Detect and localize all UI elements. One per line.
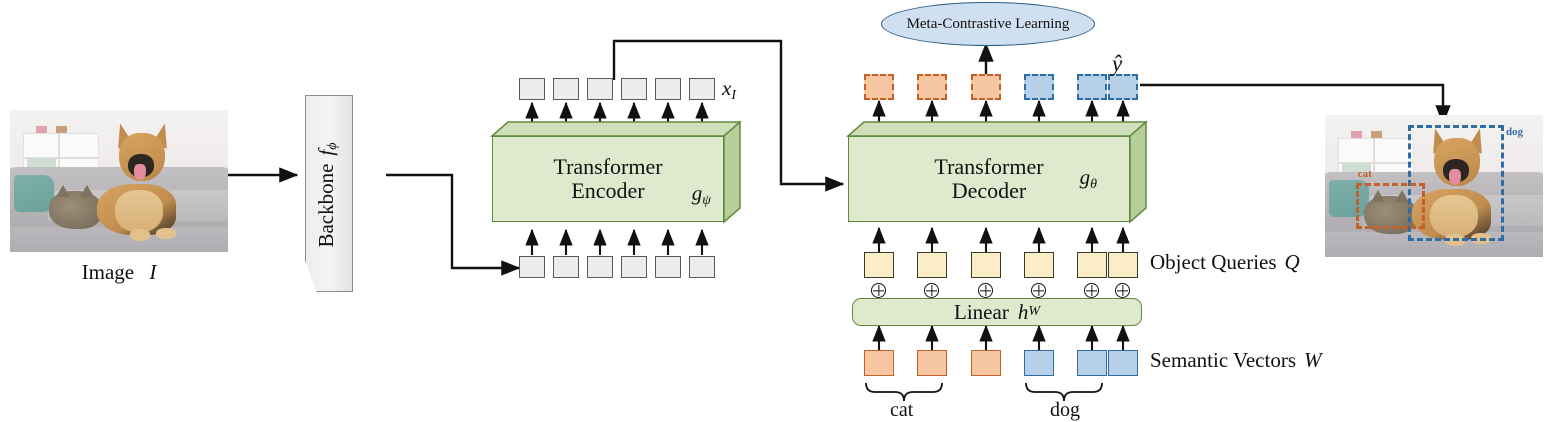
photo-dog-chest	[115, 190, 163, 233]
object-query-box[interactable]	[1024, 252, 1054, 278]
semantic-vectors-text: Semantic Vectors	[1150, 348, 1296, 372]
linear-symbol: h	[1018, 302, 1029, 323]
photo-trinket	[56, 126, 67, 133]
decoder-front-face: Transformer Decoder gθ	[848, 136, 1130, 222]
sum-icon	[1031, 283, 1046, 298]
photo-trinket	[36, 126, 47, 133]
input-caption-word: Image	[82, 260, 134, 284]
encoder-output-token[interactable]	[587, 78, 613, 100]
encoder-front-face: Transformer Encoder gψ	[492, 136, 724, 222]
photo-blanket	[14, 175, 53, 212]
linear-layer-module[interactable]: Linear hW	[852, 298, 1142, 326]
meta-contrastive-learning-label: Meta-Contrastive Learning	[907, 17, 1070, 32]
decoder-output-label: ŷ	[1112, 52, 1122, 75]
encoder-input-token[interactable]	[621, 256, 647, 278]
semantic-vectors-label: Semantic VectorsW	[1150, 350, 1322, 371]
object-queries-text: Object Queries	[1150, 250, 1277, 274]
sum-icon	[924, 283, 939, 298]
semantic-vectors-symbol: W	[1304, 348, 1322, 372]
decoder-symbol-group: gθ	[1080, 167, 1097, 192]
y-hat-symbol: ŷ	[1112, 51, 1122, 76]
encoder-output-token[interactable]	[689, 78, 715, 100]
semantic-vector-dog[interactable]	[1024, 350, 1054, 376]
semantic-group-label-dog: dog	[1050, 400, 1080, 420]
decoder-output-box-dog[interactable]	[1108, 74, 1138, 100]
decoder-symbol: g	[1080, 165, 1091, 189]
photo-dog-tongue	[134, 164, 146, 180]
encoder-input-token[interactable]	[689, 256, 715, 278]
encoder-input-token[interactable]	[655, 256, 681, 278]
input-image-caption: Image I	[10, 262, 228, 283]
encoder-label-line2: Encoder	[571, 178, 644, 203]
sum-icon	[1115, 283, 1130, 298]
encoder-output-token[interactable]	[621, 78, 647, 100]
photo-trinket	[1351, 131, 1362, 138]
decoder-label: Transformer Decoder	[934, 155, 1043, 203]
backbone-symbol: f	[314, 150, 338, 156]
encoder-output-label: xI	[722, 78, 736, 103]
linear-label: Linear	[954, 302, 1009, 323]
photo-trinket	[1371, 131, 1382, 138]
semantic-vector-cat[interactable]	[864, 350, 894, 376]
backbone-label: Backbonefϕ	[316, 115, 340, 275]
decoder-output-box-cat[interactable]	[864, 74, 894, 100]
encoder-symbol: g	[692, 181, 703, 205]
encoder-input-token[interactable]	[587, 256, 613, 278]
meta-contrastive-learning-node[interactable]: Meta-Contrastive Learning	[881, 2, 1095, 46]
encoder-output-token[interactable]	[553, 78, 579, 100]
encoder-input-token[interactable]	[519, 256, 545, 278]
detection-label-cat: cat	[1358, 168, 1372, 180]
encoder-symbol-group: gψ	[692, 183, 711, 208]
object-query-box[interactable]	[971, 252, 1001, 278]
semantic-vector-dog[interactable]	[1108, 350, 1138, 376]
linear-subscript: W	[1028, 305, 1040, 319]
detection-box-cat[interactable]	[1356, 183, 1426, 228]
decoder-output-box-cat[interactable]	[917, 74, 947, 100]
encoder-output-subscript: I	[731, 88, 736, 103]
decoder-label-line2: Decoder	[952, 178, 1027, 203]
photo-dog-paw	[156, 228, 176, 239]
decoder-output-box-cat[interactable]	[971, 74, 1001, 100]
input-image	[10, 110, 228, 252]
semantic-vector-dog[interactable]	[1077, 350, 1107, 376]
semantic-vector-cat[interactable]	[917, 350, 947, 376]
encoder-output-token[interactable]	[519, 78, 545, 100]
photo-cat	[49, 191, 101, 229]
decoder-label-line1: Transformer	[934, 154, 1043, 179]
object-queries-symbol: Q	[1285, 250, 1300, 274]
encoder-input-token[interactable]	[553, 256, 579, 278]
semantic-vector-cat[interactable]	[971, 350, 1001, 376]
sum-icon	[1084, 283, 1099, 298]
encoder-output-token[interactable]	[655, 78, 681, 100]
backbone-subscript: ϕ	[325, 142, 340, 149]
decoder-output-box-dog[interactable]	[1024, 74, 1054, 100]
decoder-output-box-dog[interactable]	[1077, 74, 1107, 100]
detection-label-dog: dog	[1506, 126, 1523, 138]
object-query-box[interactable]	[1077, 252, 1107, 278]
object-queries-label: Object QueriesQ	[1150, 252, 1300, 273]
decoder-subscript: θ	[1090, 177, 1097, 192]
backbone-label-text: Backbone	[314, 164, 338, 248]
output-image: dog cat	[1325, 115, 1543, 257]
object-query-box[interactable]	[1108, 252, 1138, 278]
semantic-group-label-cat: cat	[890, 400, 913, 420]
encoder-output-symbol: x	[722, 76, 731, 100]
input-caption-symbol: I	[149, 260, 156, 284]
encoder-subscript: ψ	[702, 193, 711, 208]
figure-canvas: Image I Backbonefϕ Transformer Encoder g…	[0, 0, 1547, 422]
object-query-box[interactable]	[864, 252, 894, 278]
sum-icon	[978, 283, 993, 298]
encoder-label: Transformer Encoder	[553, 155, 662, 203]
encoder-label-line1: Transformer	[553, 154, 662, 179]
transformer-encoder-module[interactable]: Transformer Encoder gψ	[492, 122, 740, 222]
sum-icon	[871, 283, 886, 298]
photo-dog-paw	[130, 229, 150, 240]
transformer-decoder-module[interactable]: Transformer Decoder gθ	[848, 122, 1146, 222]
object-query-box[interactable]	[917, 252, 947, 278]
